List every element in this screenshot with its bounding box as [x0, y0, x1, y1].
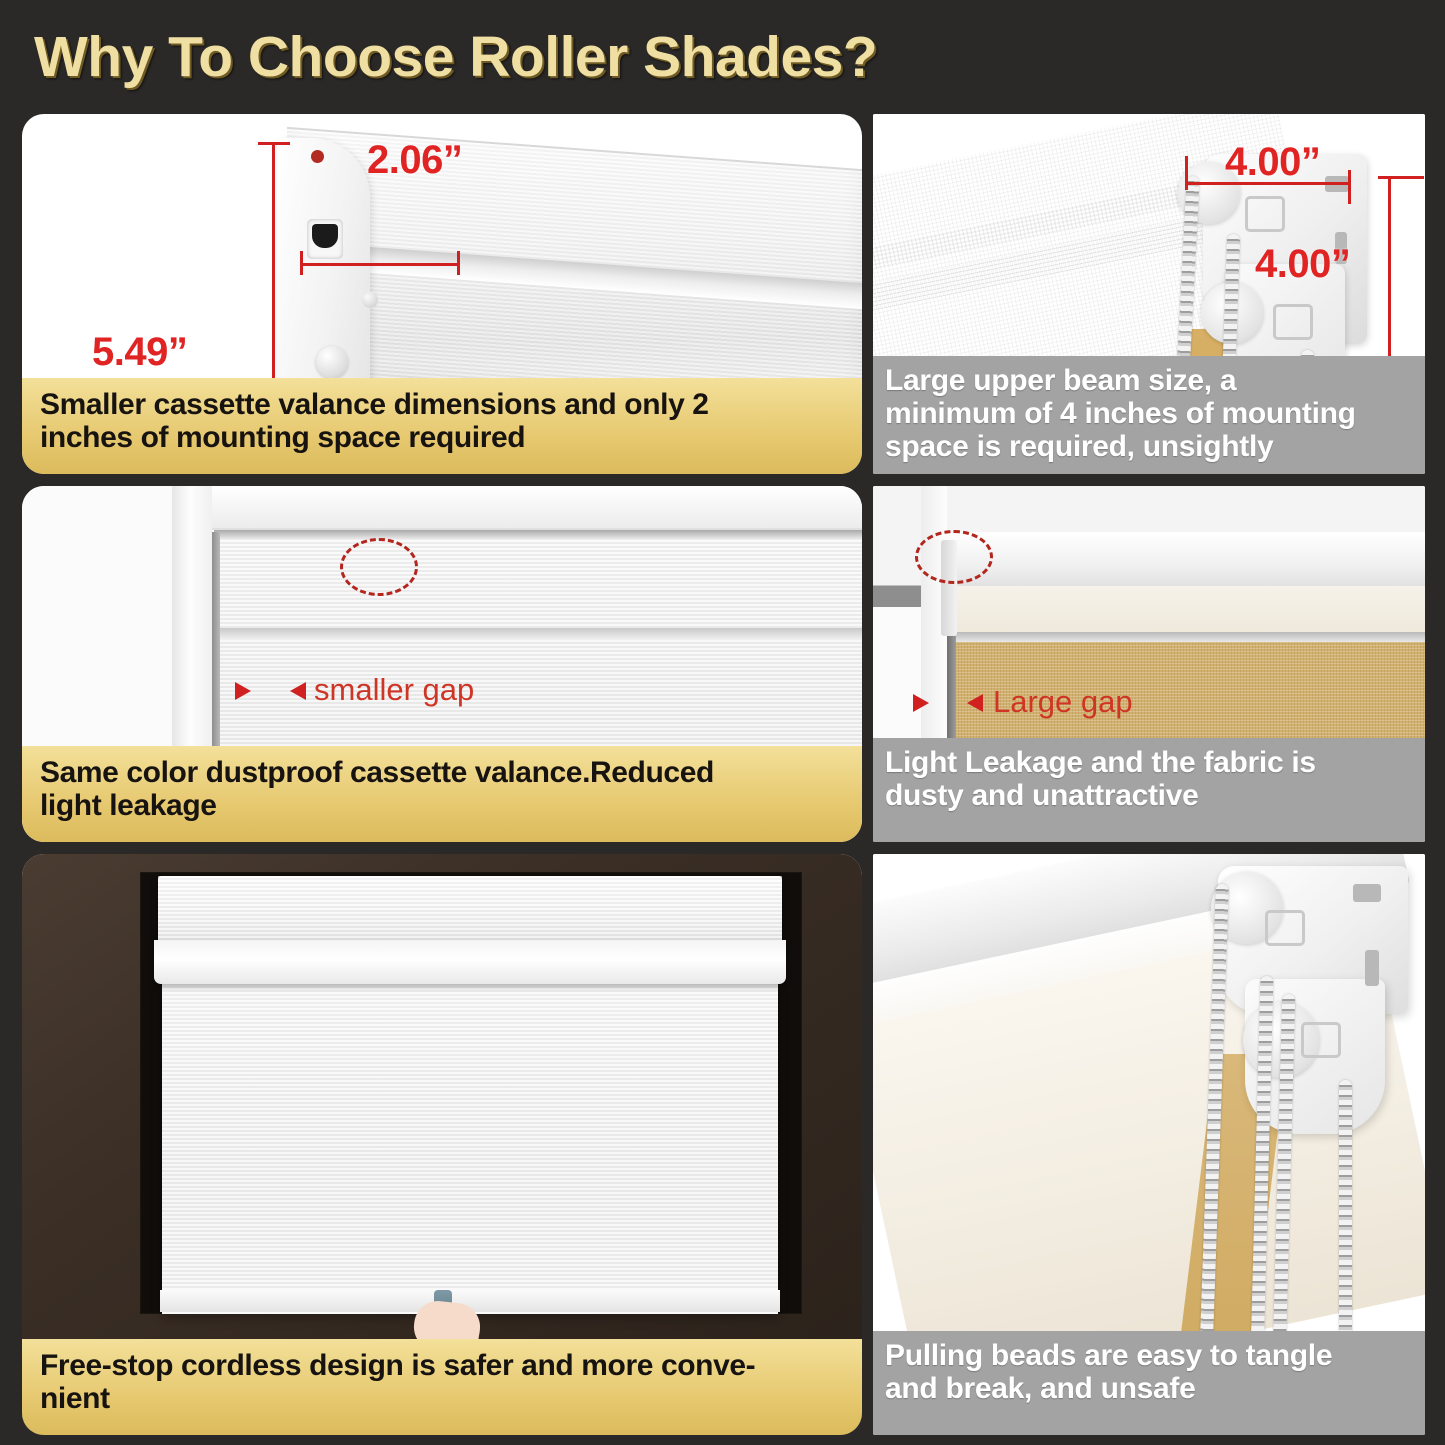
gap-arrow-left	[913, 694, 929, 712]
cassette-slot	[307, 219, 343, 259]
bracket-label-icon-2	[1301, 1022, 1341, 1058]
title-bar: Why To Choose Roller Shades?	[0, 0, 1445, 104]
bracket-notch-1	[1353, 884, 1381, 902]
caption-line-3: space is required, unsightly	[885, 430, 1415, 463]
highlight-ellipse	[915, 530, 993, 584]
gap-arrow-right	[967, 694, 983, 712]
height-dimension-label: 5.49”	[92, 330, 187, 375]
measure-origin-dot	[311, 150, 324, 163]
cassette-valance	[158, 876, 782, 946]
caption-line-1: Pulling beads are easy to tangle	[885, 1339, 1415, 1372]
upper-beam-valance	[947, 532, 1425, 594]
caption-line-1: Smaller cassette valance dimensions and …	[40, 388, 846, 421]
caption-line-2: nient	[40, 1382, 846, 1415]
panel-cordless-design: Free-stop cordless design is safer and m…	[22, 854, 862, 1435]
width-dim-cap-right	[457, 251, 460, 275]
panel-light-leakage-caption: Light Leakage and the fabric is dusty an…	[873, 738, 1425, 842]
panel-smaller-cassette: 5.49” 2.06” Smaller cassette valance dim…	[22, 114, 862, 474]
caption-line-2: dusty and unattractive	[885, 779, 1415, 812]
caption-line-2: and break, and unsafe	[885, 1372, 1415, 1405]
valance-texture	[158, 876, 782, 946]
panel-dustproof-cassette-caption: Same color dustproof cassette valance.Re…	[22, 746, 862, 842]
cassette-lower-lip	[214, 628, 862, 640]
beam-height-cap-top	[1378, 176, 1424, 179]
gap-arrow-left	[235, 682, 251, 700]
comparison-grid: 5.49” 2.06” Smaller cassette valance dim…	[0, 104, 1445, 1445]
panel-light-leakage: Large gap Light Leakage and the fabric i…	[873, 486, 1425, 842]
valance-front-lip	[154, 940, 786, 984]
cassette-small-screw	[362, 292, 378, 308]
caption-line-1: Free-stop cordless design is safer and m…	[40, 1349, 846, 1382]
panel-large-upper-beam-caption: Large upper beam size, a minimum of 4 in…	[873, 356, 1425, 474]
height-dim-cap-top	[258, 142, 290, 145]
gap-arrow-right	[290, 682, 306, 700]
width-dim-cap-left	[300, 251, 303, 275]
panel-large-upper-beam: 4.00” 4.00” Large upper beam size, a min…	[873, 114, 1425, 474]
window-frame-left	[172, 486, 212, 786]
panel-cordless-design-caption: Free-stop cordless design is safer and m…	[22, 1339, 862, 1435]
caption-line-1: Large upper beam size, a	[885, 364, 1415, 397]
window-frame-top	[172, 486, 862, 530]
cassette-screw	[316, 346, 348, 378]
caption-line-1: Light Leakage and the fabric is	[885, 746, 1415, 779]
shade-fabric	[162, 984, 778, 1314]
panel-smaller-cassette-caption: Smaller cassette valance dimensions and …	[22, 378, 862, 474]
caption-line-2: inches of mounting space required	[40, 421, 846, 454]
large-gap-label: Large gap	[993, 684, 1133, 720]
bracket-label-icon-1	[1245, 196, 1285, 232]
beam-width-label: 4.00”	[1225, 140, 1320, 185]
width-dimension-label: 2.06”	[367, 138, 462, 183]
caption-line-2: light leakage	[40, 789, 846, 822]
fabric-texture	[162, 984, 778, 1314]
panel-dustproof-cassette: smaller gap Same color dustproof cassett…	[22, 486, 862, 842]
beam-height-line	[1388, 176, 1391, 370]
smaller-gap-label: smaller gap	[314, 672, 474, 708]
bracket-label-icon-2	[1273, 304, 1313, 340]
beam-width-cap-right	[1348, 170, 1351, 204]
beam-height-label: 4.00”	[1255, 242, 1350, 287]
panel-pulling-beads: Pulling beads are easy to tangle and bre…	[873, 854, 1425, 1435]
caption-line-2: minimum of 4 inches of mounting	[885, 397, 1415, 430]
valance-rail	[947, 632, 1425, 642]
highlight-ellipse	[340, 538, 418, 596]
panel-pulling-beads-caption: Pulling beads are easy to tangle and bre…	[873, 1331, 1425, 1435]
beam-width-cap-left	[1185, 156, 1188, 190]
page-title: Why To Choose Roller Shades?	[34, 24, 877, 90]
valance-lower-band	[947, 586, 1425, 634]
cassette-top-edge	[214, 530, 862, 539]
caption-line-1: Same color dustproof cassette valance.Re…	[40, 756, 846, 789]
width-dim-line	[300, 263, 460, 266]
bracket-notch-2	[1365, 950, 1379, 986]
bracket-label-icon-1	[1265, 910, 1305, 946]
gap-shadow-bar	[947, 636, 956, 746]
